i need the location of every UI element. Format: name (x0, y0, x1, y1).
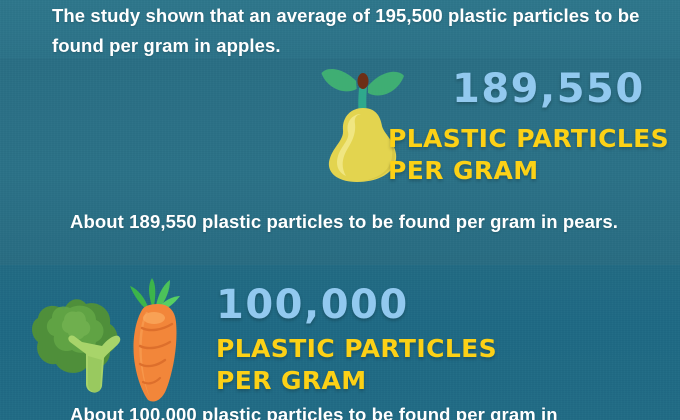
vegetable-stat-label-line2: PER GRAM (216, 366, 367, 395)
pear-stat-label-line2: PER GRAM (388, 156, 539, 185)
pear-caption-paragraph: About 189,550 plastic particles to be fo… (70, 207, 670, 237)
pear-stat-number: 189,550 (452, 66, 645, 112)
vegetable-caption-paragraph: About 100,000 plastic particles to be fo… (70, 400, 670, 420)
broccoli-icon (32, 299, 120, 392)
vegetable-stat-number: 100,000 (216, 282, 409, 328)
intro-paragraph: The study shown that an average of 195,5… (52, 1, 652, 61)
pear-stat-label-line1: PLASTIC PARTICLES (388, 124, 669, 153)
vegetable-icon-group (26, 276, 198, 404)
vegetable-stat-label-line1: PLASTIC PARTICLES (216, 334, 497, 363)
carrot-icon (130, 278, 180, 402)
